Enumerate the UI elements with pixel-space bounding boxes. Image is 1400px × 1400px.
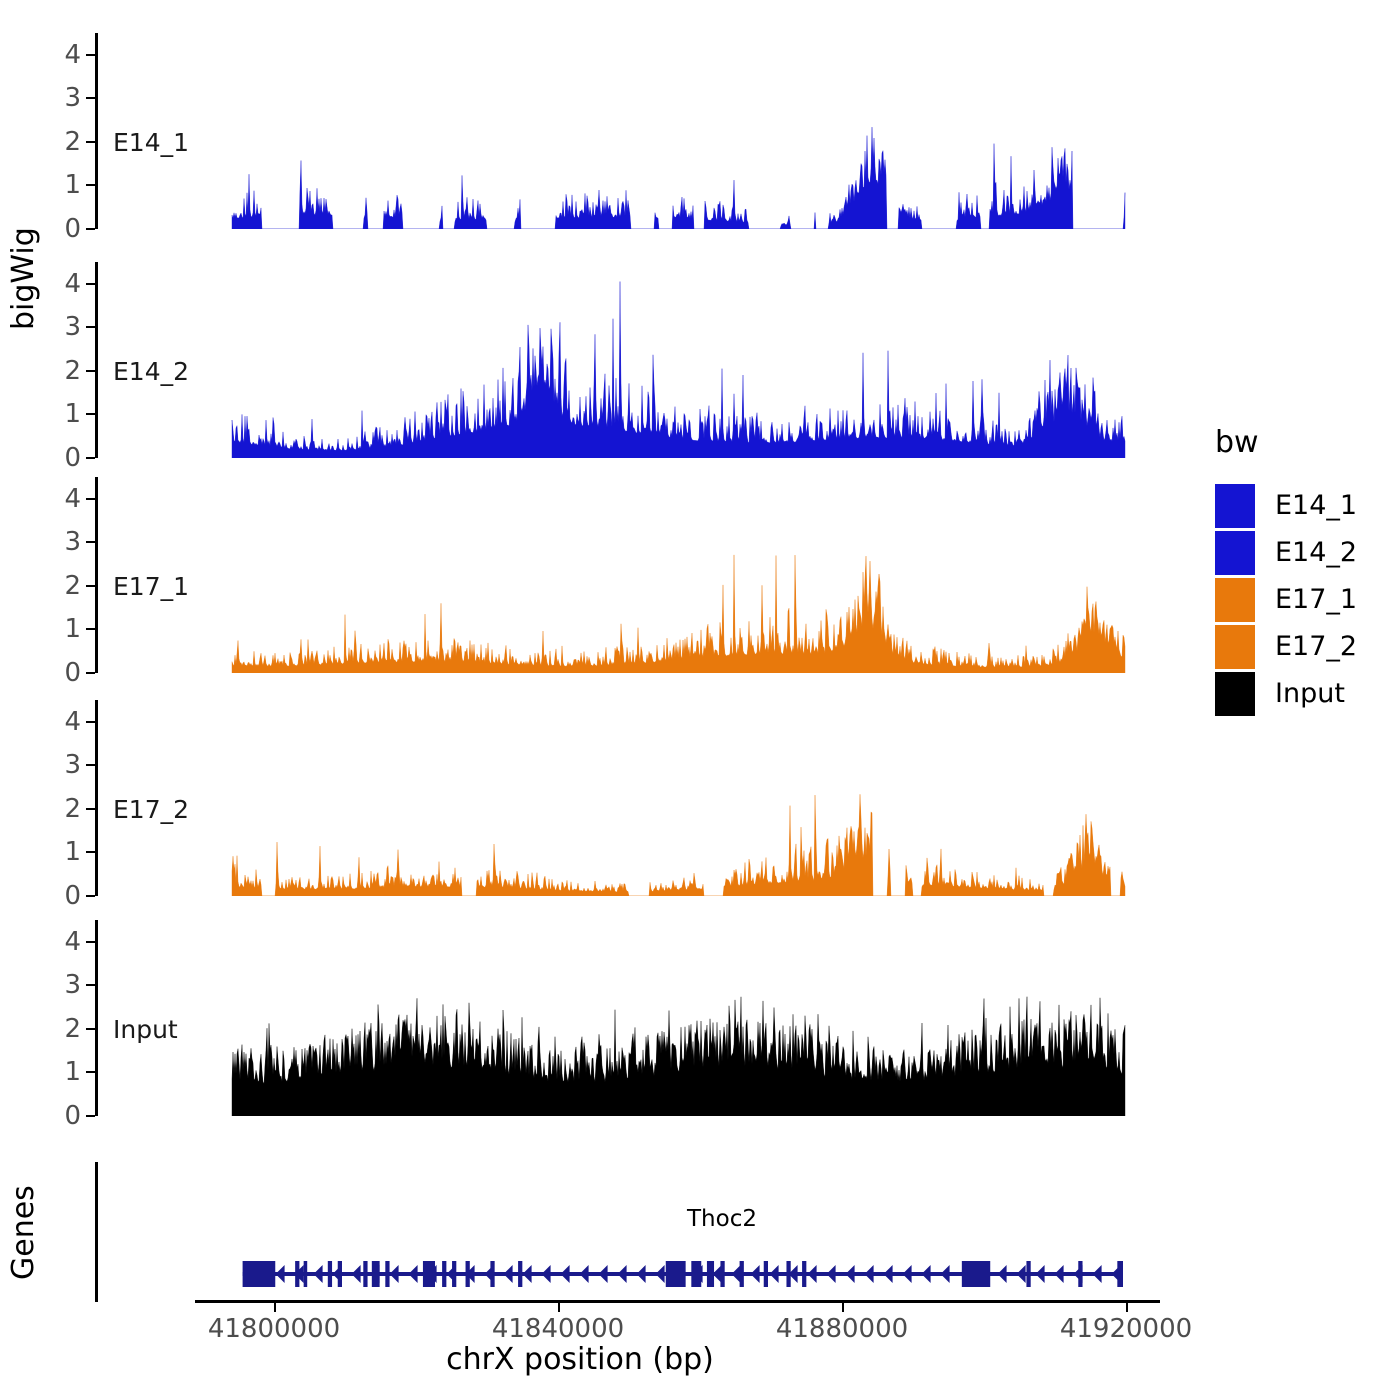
signal-track-e17_1 (98, 477, 1157, 673)
y-tick (86, 541, 95, 543)
y-tick-label: 2 (64, 1016, 81, 1042)
y-tick-label: 1 (64, 616, 81, 642)
x-axis-title: chrX position (bp) (0, 1342, 1160, 1377)
x-tick (842, 1303, 844, 1312)
signal-track-e17_2 (98, 700, 1157, 896)
legend-item-e14_2[interactable]: E14_2 (1215, 529, 1357, 576)
track-panel-e14_2: 01234E14_2 (95, 262, 1157, 458)
y-tick (86, 141, 95, 143)
track-panel-e17_1: 01234E17_1 (95, 477, 1157, 673)
y-tick-label: 1 (64, 172, 81, 198)
y-tick (86, 1115, 95, 1117)
x-tick-label: 41800000 (208, 1314, 340, 1344)
y-tick-label: 0 (64, 216, 81, 242)
legend-item-e17_1[interactable]: E17_1 (1215, 576, 1357, 623)
y-tick (86, 808, 95, 810)
y-tick (86, 370, 95, 372)
legend-items: E14_1E14_2E17_1E17_2Input (1215, 482, 1357, 717)
y-tick-label: 0 (64, 1103, 81, 1129)
y-tick-label: 4 (64, 486, 81, 512)
y-tick-label: 1 (64, 1059, 81, 1085)
legend-swatch-icon (1215, 484, 1255, 528)
y-tick (86, 585, 95, 587)
y-tick (86, 97, 95, 99)
y-tick-label: 3 (64, 85, 81, 111)
legend-title: bw (1215, 425, 1357, 460)
y-tick-label: 3 (64, 972, 81, 998)
legend: bw E14_1E14_2E17_1E17_2Input (1215, 425, 1357, 717)
track-panel-input: 01234Input (95, 920, 1157, 1116)
x-tick-label: 41880000 (776, 1314, 908, 1344)
y-tick (86, 1071, 95, 1073)
legend-label: Input (1275, 678, 1345, 709)
genes-axis-title: Genes (6, 1185, 41, 1280)
y-tick (86, 941, 95, 943)
legend-label: E17_2 (1275, 631, 1357, 662)
y-axis-title: bigWig (6, 227, 41, 330)
genome-browser-figure: bigWig Genes 01234E14_101234E14_201234E1… (0, 0, 1400, 1400)
y-tick (86, 184, 95, 186)
y-tick-label: 4 (64, 271, 81, 297)
x-tick-label: 41920000 (1060, 1314, 1192, 1344)
y-tick (86, 851, 95, 853)
y-tick (86, 721, 95, 723)
signal-track-e14_1 (98, 33, 1157, 229)
y-tick-label: 3 (64, 529, 81, 555)
y-tick (86, 1028, 95, 1030)
x-tick-label: 41840000 (492, 1314, 624, 1344)
y-tick-label: 1 (64, 839, 81, 865)
y-tick (86, 326, 95, 328)
y-tick (86, 413, 95, 415)
x-axis-line (195, 1300, 1160, 1303)
y-tick (86, 628, 95, 630)
y-tick-label: 4 (64, 929, 81, 955)
genes-panel: Thoc2 (95, 1162, 1157, 1302)
y-tick (86, 498, 95, 500)
x-tick (558, 1303, 560, 1312)
y-tick (86, 457, 95, 459)
y-tick-label: 3 (64, 752, 81, 778)
y-tick (86, 984, 95, 986)
y-tick (86, 228, 95, 230)
y-tick-label: 1 (64, 401, 81, 427)
y-tick-label: 0 (64, 445, 81, 471)
legend-label: E14_2 (1275, 537, 1357, 568)
y-tick (86, 895, 95, 897)
y-tick (86, 283, 95, 285)
legend-swatch-icon (1215, 672, 1255, 716)
y-tick-label: 3 (64, 314, 81, 340)
y-tick-label: 4 (64, 42, 81, 68)
y-tick-label: 0 (64, 883, 81, 909)
y-tick-label: 2 (64, 358, 81, 384)
legend-swatch-icon (1215, 578, 1255, 622)
legend-swatch-icon (1215, 625, 1255, 669)
legend-swatch-icon (1215, 531, 1255, 575)
legend-label: E17_1 (1275, 584, 1357, 615)
track-panel-e14_1: 01234E14_1 (95, 33, 1157, 229)
y-tick-label: 2 (64, 573, 81, 599)
legend-item-e14_1[interactable]: E14_1 (1215, 482, 1357, 529)
y-tick (86, 54, 95, 56)
signal-track-input (98, 920, 1157, 1116)
y-tick (86, 672, 95, 674)
legend-label: E14_1 (1275, 490, 1357, 521)
y-tick-label: 4 (64, 709, 81, 735)
y-tick-label: 2 (64, 129, 81, 155)
y-tick-label: 0 (64, 660, 81, 686)
x-tick (274, 1303, 276, 1312)
track-panel-e17_2: 01234E17_2 (95, 700, 1157, 896)
x-tick (1126, 1303, 1128, 1312)
legend-item-input[interactable]: Input (1215, 670, 1357, 717)
legend-item-e17_2[interactable]: E17_2 (1215, 623, 1357, 670)
signal-track-e14_2 (98, 262, 1157, 458)
y-tick-label: 2 (64, 796, 81, 822)
y-tick (86, 764, 95, 766)
